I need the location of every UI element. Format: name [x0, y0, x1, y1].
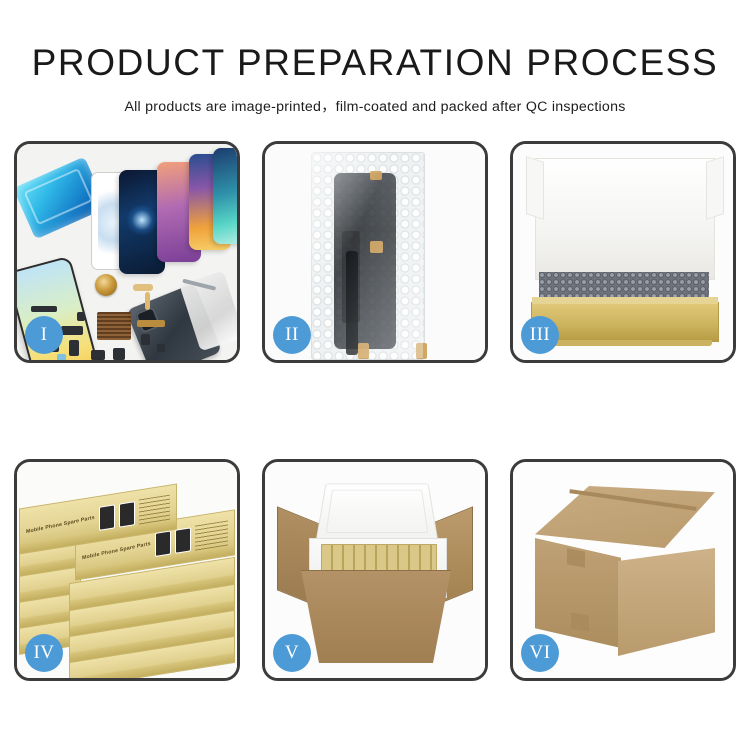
step-panel-5: V — [262, 459, 488, 681]
small-part — [157, 344, 165, 352]
step-badge-4: IV — [25, 634, 63, 672]
foam-box-lid — [316, 484, 439, 542]
step-panel-3: III — [510, 141, 736, 363]
step-badge-1: I — [25, 316, 63, 354]
box-artwork-screen — [155, 530, 171, 557]
step-panel-4: Mobile Phone Spare Parts Mobile Phone Sp… — [14, 459, 240, 681]
page-subtitle: All products are image-printed，film-coat… — [0, 81, 750, 116]
step-panel-6: VI — [510, 459, 736, 681]
chip-grid-part — [97, 312, 131, 340]
step-badge-6: VI — [521, 634, 559, 672]
step-badge-5: V — [273, 634, 311, 672]
page-title: PRODUCT PREPARATION PROCESS — [0, 0, 750, 81]
box-artwork-screen — [175, 527, 191, 554]
small-part — [133, 284, 153, 291]
wrapped-flex-cable — [346, 251, 358, 355]
box-label-text: Mobile Phone Spare Parts — [82, 541, 151, 561]
wrapped-display-assembly — [334, 173, 396, 349]
tape-piece — [370, 241, 383, 253]
small-part — [113, 348, 125, 360]
step-panel-2: II — [262, 141, 488, 363]
tape-piece — [416, 343, 427, 359]
box-artwork-screen — [99, 504, 115, 531]
small-part — [91, 350, 105, 360]
small-part — [57, 354, 66, 360]
box-white-lid — [535, 158, 715, 280]
kraft-box-base — [531, 302, 719, 342]
product-preparation-infographic: PRODUCT PREPARATION PROCESS All products… — [0, 0, 750, 750]
small-part — [61, 326, 83, 335]
small-part — [77, 312, 85, 321]
copper-coil-part — [95, 274, 117, 296]
carton-tape-piece — [571, 612, 589, 631]
bubble-wrap-sheet — [311, 152, 425, 360]
step-badge-3: III — [521, 316, 559, 354]
carton-tape-piece — [567, 548, 585, 567]
box-artwork-screen — [119, 501, 135, 528]
phone-screen-teal — [213, 148, 237, 244]
small-part — [141, 334, 150, 345]
small-part — [69, 340, 79, 356]
tape-piece — [370, 171, 382, 180]
box-label-text: Mobile Phone Spare Parts — [26, 515, 95, 535]
tape-piece — [358, 343, 369, 359]
small-part — [31, 306, 57, 312]
carton-body — [301, 570, 451, 663]
process-steps-grid: I II III — [14, 141, 740, 681]
small-part — [145, 292, 150, 310]
small-part — [137, 320, 165, 327]
carton-top-face — [535, 486, 715, 548]
step-panel-1: I — [14, 141, 240, 363]
header: PRODUCT PREPARATION PROCESS All products… — [0, 0, 750, 116]
carton-right-face — [618, 548, 715, 656]
step-badge-2: II — [273, 316, 311, 354]
